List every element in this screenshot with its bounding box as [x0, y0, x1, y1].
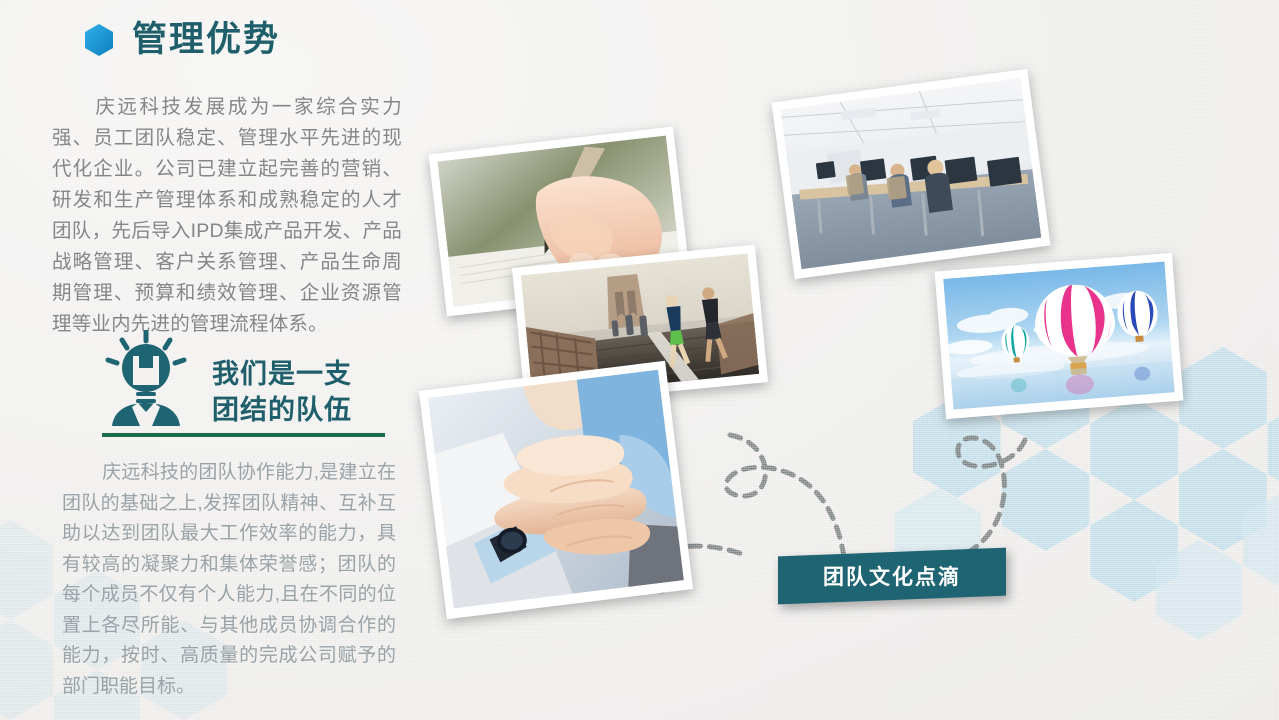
photo-office-image — [780, 78, 1041, 269]
photo-balloons[interactable] — [935, 253, 1184, 419]
photo-hands-image — [428, 370, 684, 610]
team-paragraph-block: 庆远科技的团队协作能力,是建立在团队的基础之上,发挥团队精神、互补互助以达到团队… — [62, 458, 396, 702]
hexagon-icon — [84, 23, 114, 57]
team-heading-underline — [102, 433, 385, 437]
idea-person-lightbulb-icon — [100, 330, 192, 426]
team-heading-block: 我们是一支 团结的队伍 — [100, 330, 400, 440]
team-paragraph-text: 庆远科技的团队协作能力,是建立在团队的基础之上,发挥团队精神、互补互助以达到团队… — [62, 462, 396, 697]
culture-banner-label: 团队文化点滴 — [823, 561, 961, 591]
team-paragraph: 庆远科技的团队协作能力,是建立在团队的基础之上,发挥团队精神、互补互助以达到团队… — [62, 458, 396, 702]
team-heading-line1: 我们是一支 — [212, 356, 352, 392]
slide-canvas: 管理优势 庆远科技发展成为一家综合实力强、员工团队稳定、管理水平先进的现代化企业… — [0, 0, 1279, 720]
intro-paragraph-block: 庆远科技发展成为一家综合实力强、员工团队稳定、管理水平先进的现代化企业。公司已建… — [52, 92, 402, 340]
page-title: 管理优势 — [132, 22, 280, 57]
photo-office[interactable] — [771, 69, 1050, 279]
intro-paragraph: 庆远科技发展成为一家综合实力强、员工团队稳定、管理水平先进的现代化企业。公司已建… — [52, 92, 402, 340]
intro-paragraph-text: 庆远科技发展成为一家综合实力强、员工团队稳定、管理水平先进的现代化企业。公司已建… — [52, 96, 402, 335]
slide-header: 管理优势 — [84, 22, 280, 57]
culture-banner[interactable]: 团队文化点滴 — [778, 548, 1006, 605]
photo-balloons-image — [943, 261, 1175, 409]
photo-hands[interactable] — [419, 361, 693, 620]
team-heading-line2: 团结的队伍 — [212, 392, 352, 428]
team-heading-text: 我们是一支 团结的队伍 — [212, 356, 352, 428]
